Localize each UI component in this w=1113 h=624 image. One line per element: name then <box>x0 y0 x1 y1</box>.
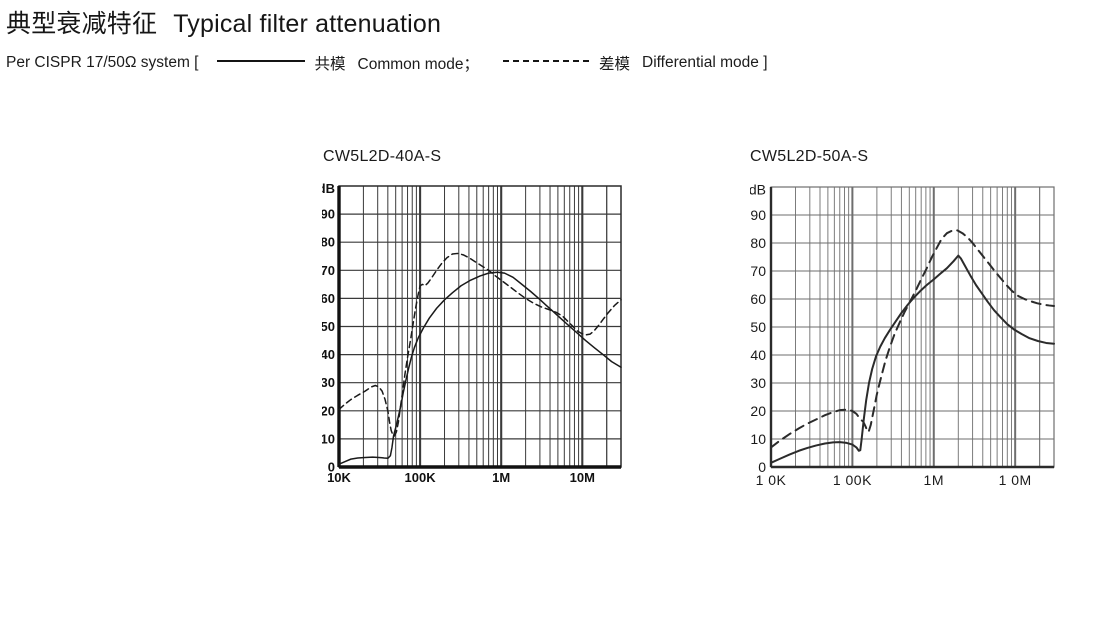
x-tick-label: 1M <box>924 472 944 488</box>
y-axis-tick-labels: 0102030405060708090 <box>322 207 335 475</box>
y-tick-label: 10 <box>750 431 766 447</box>
chart-title: CW5L2D-40A-S <box>323 148 627 166</box>
x-axis-tick-labels: 10K100K1M10M <box>327 470 595 484</box>
x-tick-label: 10M <box>570 470 595 484</box>
y-tick-label: 90 <box>750 207 766 223</box>
y-tick-label: 60 <box>322 291 335 306</box>
legend-differential-mode-line-icon <box>503 60 589 62</box>
y-tick-label: 40 <box>322 347 335 362</box>
chart-canvas-wrapper: 0102030405060708090dB10K100K1M10M <box>322 179 627 484</box>
y-tick-label: 30 <box>750 375 766 391</box>
chart-gridlines <box>339 186 621 467</box>
x-tick-label: 10K <box>327 470 351 484</box>
x-tick-label: 1 0M <box>999 472 1032 488</box>
page-title: 典型衰减特征Typical filter attenuation <box>6 4 441 40</box>
subtitle-legend: Per CISPR 17/50Ω system [ 共模 Common mode… <box>6 52 772 74</box>
attenuation-chart-cw5l2d-40a-s: 0102030405060708090dB10K100K1M10M <box>322 179 627 484</box>
legend-common-mode-cn: 共模 <box>315 52 346 74</box>
x-tick-label: 1 0K <box>756 472 787 488</box>
y-axis-unit-label: dB <box>322 181 335 196</box>
legend-common-mode-line-icon <box>217 60 305 62</box>
y-tick-label: 40 <box>750 347 766 363</box>
page-title-cn: 典型衰减特征 <box>6 10 157 38</box>
chart-block-cw5l2d-50a-s: CW5L2D-50A-S 0102030405060708090dB1 0K1 … <box>750 148 1070 491</box>
y-tick-label: 80 <box>322 235 335 250</box>
legend-differential-mode-en: Differential mode ] <box>642 54 768 72</box>
y-tick-label: 50 <box>750 319 766 335</box>
y-tick-label: 20 <box>322 403 335 418</box>
x-axis-tick-labels: 1 0K1 00K1M1 0M <box>756 472 1032 488</box>
y-tick-label: 10 <box>322 431 335 446</box>
chart-title: CW5L2D-50A-S <box>750 148 1070 166</box>
chart-canvas-wrapper: 0102030405060708090dB1 0K1 00K1M1 0M <box>750 179 1070 491</box>
x-tick-label: 100K <box>405 470 437 484</box>
legend-differential-mode-cn: 差模 <box>599 52 630 74</box>
y-tick-label: 70 <box>750 263 766 279</box>
chart-block-cw5l2d-40a-s: CW5L2D-40A-S 0102030405060708090dB10K100… <box>322 148 627 484</box>
attenuation-chart-cw5l2d-50a-s: 0102030405060708090dB1 0K1 00K1M1 0M <box>750 179 1070 491</box>
y-tick-label: 20 <box>750 403 766 419</box>
y-tick-label: 80 <box>750 235 766 251</box>
page-title-en: Typical filter attenuation <box>173 10 441 38</box>
y-tick-label: 90 <box>322 207 335 222</box>
y-axis-tick-labels: 0102030405060708090 <box>750 207 766 475</box>
y-tick-label: 30 <box>322 375 335 390</box>
subtitle-prefix: Per CISPR 17/50Ω system [ <box>6 54 199 72</box>
legend-common-mode-en: Common mode； <box>358 52 479 74</box>
x-tick-label: 1M <box>492 470 510 484</box>
x-tick-label: 1 00K <box>833 472 872 488</box>
y-tick-label: 60 <box>750 291 766 307</box>
y-tick-label: 50 <box>322 319 335 334</box>
y-axis-unit-label: dB <box>750 182 766 198</box>
y-tick-label: 70 <box>322 263 335 278</box>
